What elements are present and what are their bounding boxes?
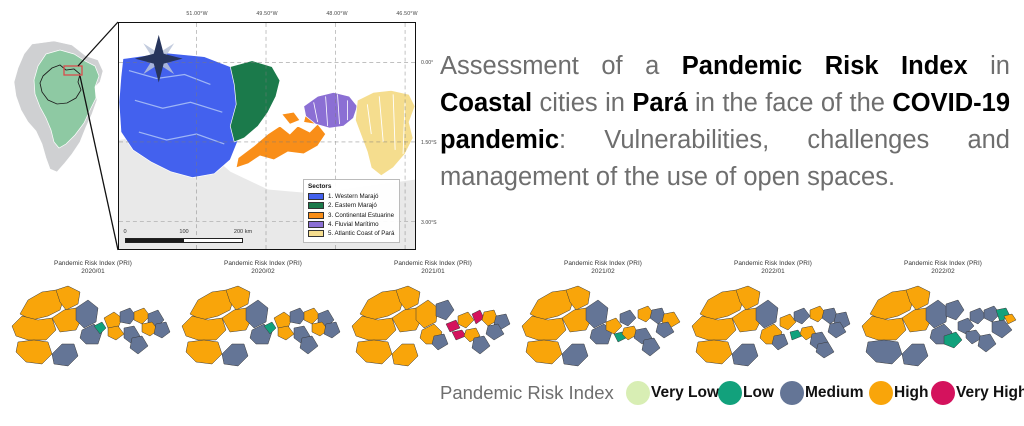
sector-legend-item: 1. Western Marajó bbox=[308, 192, 394, 201]
lon-tick-label: 49.50°W bbox=[256, 11, 277, 17]
pri-legend-item-very-high: Very High bbox=[931, 381, 1024, 405]
pri-map-svg bbox=[348, 278, 518, 370]
map-panel-period: 2022/01 bbox=[688, 268, 858, 276]
pri-legend-item-low: Low bbox=[718, 381, 774, 405]
pri-map-panel-2020-02: Pandemic Risk Index (PRI) 2020/02 bbox=[178, 258, 348, 373]
pri-choropleth-2021-02 bbox=[518, 278, 688, 370]
pri-swatch-medium bbox=[780, 381, 804, 405]
south-america-inset-map bbox=[2, 30, 112, 175]
pri-map-panel-2022-01: Pandemic Risk Index (PRI) 2022/01 bbox=[688, 258, 858, 373]
pri-swatch-low bbox=[718, 381, 742, 405]
sectors-legend: Sectors 1. Western Marajó 2. Eastern Mar… bbox=[303, 179, 400, 243]
map-panel-title: Pandemic Risk Index (PRI) bbox=[348, 260, 518, 268]
pri-legend-item-high: High bbox=[869, 381, 928, 405]
scale-tick-label: 0 bbox=[123, 229, 126, 235]
map-panel-title: Pandemic Risk Index (PRI) bbox=[688, 260, 858, 268]
pri-map-panel-2022-02: Pandemic Risk Index (PRI) 2022/02 bbox=[858, 258, 1024, 373]
pri-choropleth-2021-01 bbox=[348, 278, 518, 370]
scale-tick-label: 200 km bbox=[234, 229, 252, 235]
pri-map-panel-2021-02: Pandemic Risk Index (PRI) 2021/02 bbox=[518, 258, 688, 373]
title-seg: in bbox=[968, 52, 1010, 80]
pri-map-panel-2020-01: Pandemic Risk Index (PRI) 2020/01 bbox=[8, 258, 178, 373]
map-panel-period: 2021/02 bbox=[518, 268, 688, 276]
pri-choropleth-2020-01 bbox=[8, 278, 178, 370]
map-panel-title: Pandemic Risk Index (PRI) bbox=[178, 260, 348, 268]
sector-label: 1. Western Marajó bbox=[328, 193, 378, 200]
sector-swatch-atlantic-coast bbox=[308, 230, 324, 237]
header-figure-section: 51.00°W 49.50°W 48.00°W 46.50°W 0.00° 1.… bbox=[0, 0, 1024, 258]
pri-map-panel-2021-01: Pandemic Risk Index (PRI) 2021/01 bbox=[348, 258, 518, 373]
pri-label: Medium bbox=[805, 384, 864, 402]
pri-label: Very Low bbox=[651, 384, 719, 402]
title-seg: Assessment of a bbox=[440, 52, 682, 80]
scale-bar-track bbox=[125, 238, 243, 243]
map-panel-caption: Pandemic Risk Index (PRI) 2020/02 bbox=[178, 258, 348, 277]
map-panel-caption: Pandemic Risk Index (PRI) 2021/01 bbox=[348, 258, 518, 277]
map-panel-title: Pandemic Risk Index (PRI) bbox=[518, 260, 688, 268]
sector-label: 3. Continental Estuarine bbox=[328, 212, 394, 219]
lat-tick-label: 3.00°S bbox=[421, 220, 437, 226]
pri-label: Low bbox=[743, 384, 774, 402]
pri-map-svg bbox=[518, 278, 688, 370]
map-scale-bar: 0 100 200 km bbox=[125, 229, 243, 243]
pri-legend-item-very-low: Very Low bbox=[626, 381, 719, 405]
pri-map-svg bbox=[688, 278, 858, 370]
pri-swatch-very-high bbox=[931, 381, 955, 405]
pri-label: High bbox=[894, 384, 928, 402]
sector-swatch-continental-estuarine bbox=[308, 212, 324, 219]
pri-map-svg bbox=[858, 278, 1024, 370]
inset-map-svg bbox=[2, 30, 112, 175]
main-study-area-map: 51.00°W 49.50°W 48.00°W 46.50°W 0.00° 1.… bbox=[118, 22, 416, 250]
sector-label: 2. Eastern Marajó bbox=[328, 202, 377, 209]
map-panel-period: 2020/01 bbox=[8, 268, 178, 276]
lon-tick-label: 46.50°W bbox=[396, 11, 417, 17]
scale-tick-label: 100 bbox=[179, 229, 188, 235]
pri-map-svg bbox=[8, 278, 178, 370]
sectors-legend-title: Sectors bbox=[308, 183, 394, 190]
map-panel-caption: Pandemic Risk Index (PRI) 2021/02 bbox=[518, 258, 688, 277]
sector-swatch-eastern-marajo bbox=[308, 202, 324, 209]
sector-swatch-western-marajo bbox=[308, 193, 324, 200]
map-panel-period: 2021/01 bbox=[348, 268, 518, 276]
pandemic-risk-index-legend: Pandemic Risk Index Very Low Low Medium … bbox=[0, 378, 1024, 408]
sector-legend-item: 2. Eastern Marajó bbox=[308, 201, 394, 210]
lat-tick-label: 1.50°S bbox=[421, 140, 437, 146]
pri-choropleth-2022-01 bbox=[688, 278, 858, 370]
map-panel-caption: Pandemic Risk Index (PRI) 2022/01 bbox=[688, 258, 858, 277]
map-panel-title: Pandemic Risk Index (PRI) bbox=[8, 260, 178, 268]
map-panel-period: 2020/02 bbox=[178, 268, 348, 276]
lat-tick-label: 0.00° bbox=[421, 60, 433, 66]
map-panel-period: 2022/02 bbox=[858, 268, 1024, 276]
map-panel-title: Pandemic Risk Index (PRI) bbox=[858, 260, 1024, 268]
pri-legend-item-medium: Medium bbox=[780, 381, 864, 405]
pri-small-multiples-row: Pandemic Risk Index (PRI) 2020/01 bbox=[0, 258, 1024, 373]
pri-swatch-very-low bbox=[626, 381, 650, 405]
pri-label: Very High bbox=[956, 384, 1024, 402]
pri-legend-title: Pandemic Risk Index bbox=[440, 382, 614, 404]
pri-choropleth-2022-02 bbox=[858, 278, 1024, 370]
lon-tick-label: 51.00°W bbox=[186, 11, 207, 17]
title-seg: cities in bbox=[532, 89, 632, 117]
pri-map-svg bbox=[178, 278, 348, 370]
title-seg-bold: Pandemic Risk Index bbox=[682, 52, 968, 80]
sector-label: 4. Fluvial Marítimo bbox=[328, 221, 379, 228]
pri-swatch-high bbox=[869, 381, 893, 405]
title-seg-bold: Pará bbox=[632, 89, 687, 117]
sector-swatch-fluvial-maritimo bbox=[308, 221, 324, 228]
title-seg: in the face of the bbox=[688, 89, 893, 117]
sector-legend-item: 5. Atlantic Coast of Pará bbox=[308, 229, 394, 238]
sector-label: 5. Atlantic Coast of Pará bbox=[328, 230, 394, 237]
map-panel-caption: Pandemic Risk Index (PRI) 2020/01 bbox=[8, 258, 178, 277]
page-title: Assessment of a Pandemic Risk Index in C… bbox=[440, 48, 1010, 196]
title-seg-bold: Coastal bbox=[440, 89, 532, 117]
sector-legend-item: 4. Fluvial Marítimo bbox=[308, 220, 394, 229]
pri-choropleth-2020-02 bbox=[178, 278, 348, 370]
lon-tick-label: 48.00°W bbox=[326, 11, 347, 17]
sector-legend-item: 3. Continental Estuarine bbox=[308, 210, 394, 219]
map-panel-caption: Pandemic Risk Index (PRI) 2022/02 bbox=[858, 258, 1024, 277]
